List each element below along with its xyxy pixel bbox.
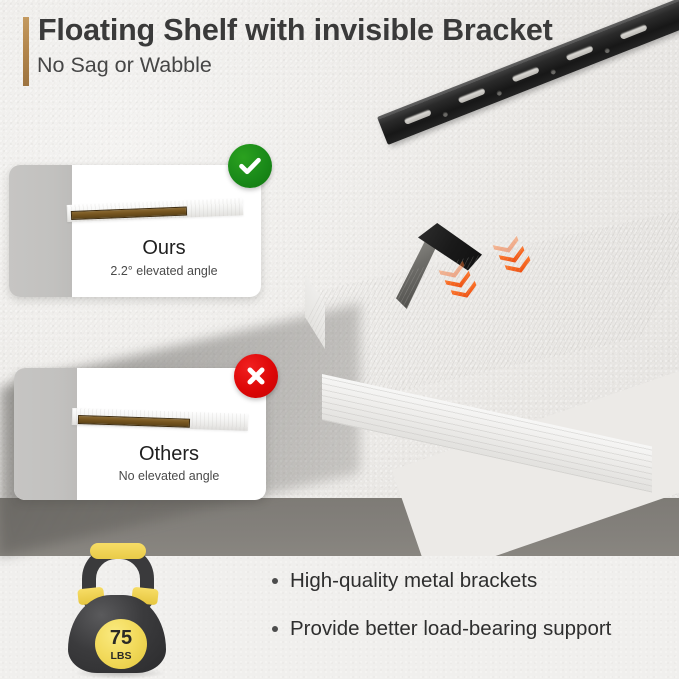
shelf-top-surface bbox=[248, 203, 679, 424]
comparison-card-ours[interactable]: Ours 2.2° elevated angle bbox=[9, 165, 261, 297]
bullet-dot-icon bbox=[272, 578, 278, 584]
feature-text: High-quality metal brackets bbox=[290, 568, 537, 594]
card-sublabel: No elevated angle bbox=[14, 469, 266, 483]
page-subtitle: No Sag or Wabble bbox=[37, 53, 212, 78]
accent-bar bbox=[23, 17, 29, 86]
feature-text: Provide better load-bearing support bbox=[290, 616, 611, 642]
cross-icon bbox=[234, 354, 278, 398]
product-photo bbox=[300, 105, 679, 395]
card-label: Ours bbox=[9, 237, 261, 260]
feature-list: High-quality metal brackets Provide bett… bbox=[272, 568, 672, 663]
card-label: Others bbox=[14, 443, 266, 466]
comparison-card-others[interactable]: Others No elevated angle bbox=[14, 368, 266, 500]
kettlebell-grip bbox=[90, 543, 146, 559]
page-title: Floating Shelf with invisible Bracket bbox=[38, 13, 553, 48]
list-item: High-quality metal brackets bbox=[272, 568, 672, 594]
card-sublabel: 2.2° elevated angle bbox=[9, 264, 261, 278]
bullet-dot-icon bbox=[272, 626, 278, 632]
kettlebell-icon: 75 LBS bbox=[48, 543, 184, 673]
kettlebell-weight-plate: 75 LBS bbox=[95, 619, 147, 669]
infographic-canvas: Floating Shelf with invisible Bracket No… bbox=[0, 0, 679, 679]
list-item: Provide better load-bearing support bbox=[272, 616, 672, 642]
weight-unit: LBS bbox=[111, 651, 132, 662]
weight-value: 75 bbox=[110, 628, 132, 648]
check-icon bbox=[228, 144, 272, 188]
